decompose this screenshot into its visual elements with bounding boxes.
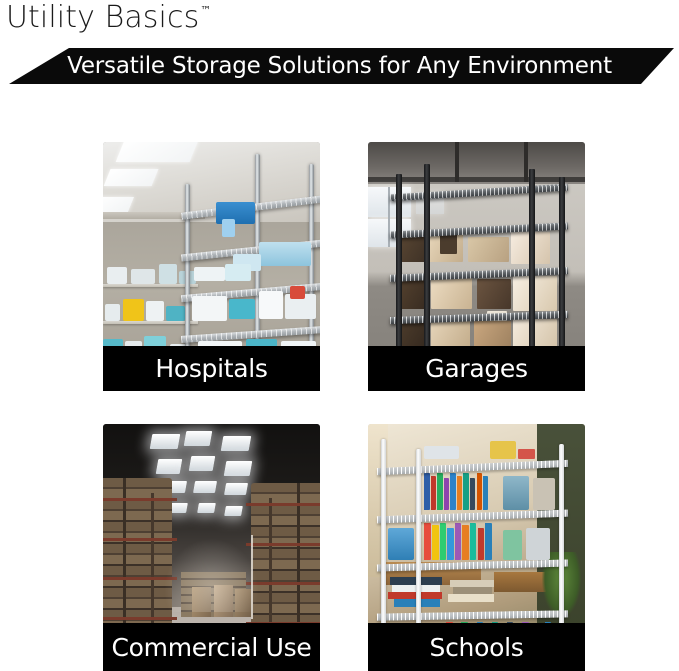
- tile-schools-caption: Schools: [368, 623, 585, 671]
- category-tile-grid: Hospitals: [0, 0, 679, 671]
- tile-garages-caption: Garages: [368, 346, 585, 391]
- tile-commercial-use[interactable]: Commercial Use: [103, 424, 320, 671]
- tile-schools[interactable]: Schools: [368, 424, 585, 671]
- tile-hospitals-caption: Hospitals: [103, 346, 320, 391]
- tile-commercial-use-caption: Commercial Use: [103, 623, 320, 671]
- tile-hospitals[interactable]: Hospitals: [103, 142, 320, 391]
- tile-garages[interactable]: Garages: [368, 142, 585, 391]
